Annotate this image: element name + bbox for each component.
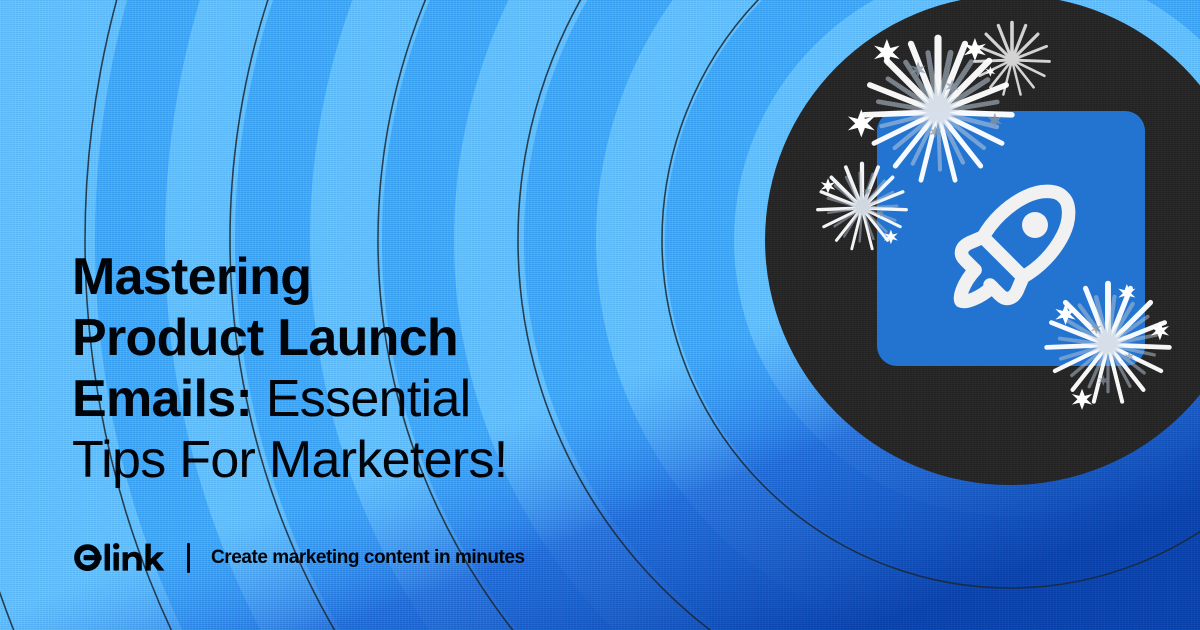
headline-line-4: Tips For Marketers! bbox=[72, 430, 592, 491]
headline-line-2: Product Launch bbox=[72, 308, 592, 369]
brand-tagline: Create marketing content in minutes bbox=[211, 547, 525, 569]
rocket-icon bbox=[945, 175, 1085, 315]
headline-line-3: Emails: Essential bbox=[72, 369, 592, 430]
brand-lockup: Create marketing content in minutes bbox=[72, 538, 525, 578]
banner-canvas: Mastering Product Launch Emails: Essenti… bbox=[0, 0, 1200, 630]
content-column: Mastering Product Launch Emails: Essenti… bbox=[72, 0, 592, 630]
brand-divider bbox=[187, 543, 190, 573]
headline-line-3-tail: Essential bbox=[266, 370, 471, 428]
page-title: Mastering Product Launch Emails: Essenti… bbox=[72, 247, 592, 491]
headline-line-1: Mastering bbox=[72, 247, 592, 308]
headline-emphasis: Emails: bbox=[72, 370, 266, 428]
elink-logo bbox=[72, 541, 165, 575]
